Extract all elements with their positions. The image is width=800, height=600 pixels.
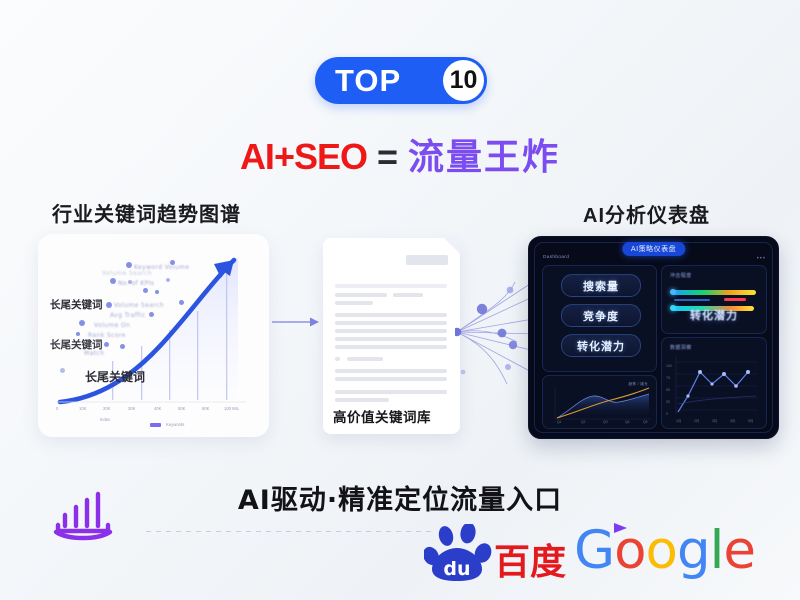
axis-tick: 50K [178, 406, 185, 411]
gauge-panel-title: 冲击程度 [670, 272, 692, 279]
flow-arrow-icon [272, 316, 320, 328]
blur-text: Volume Search [102, 270, 152, 277]
doc-placeholder-line [335, 284, 447, 288]
axis-tick: Q4 [625, 420, 630, 424]
blur-text: Avg Traffic [110, 312, 146, 319]
google-letter: G [574, 520, 614, 581]
doc-placeholder-line [335, 337, 447, 341]
axis-tick: 0 [666, 412, 668, 416]
axis-tick: Q1 [557, 420, 562, 424]
axis-tick: 30K [128, 406, 135, 411]
axis-tick: 40K [154, 406, 161, 411]
doc-placeholder-line [335, 293, 387, 297]
scatter-dot [155, 290, 159, 294]
doc-placeholder-line [335, 345, 447, 349]
doc-placeholder-line [335, 321, 447, 325]
footer-title: AI驱动·精准定位流量入口 [0, 478, 800, 517]
line-chart-panel: 数据洞察 [661, 337, 767, 429]
axis-tick: 25 [666, 400, 670, 404]
top-badge-number: 10 [450, 68, 478, 93]
gauge-threshold-bar [724, 298, 746, 301]
doc-placeholder-line [335, 301, 373, 305]
scatter-dot [166, 278, 170, 282]
axis-tick: 60K [202, 406, 209, 411]
slide-canvas: TOP 10 AI+SEO=流量王炸 行业关键词趋势图谱 AI分析仪表盘 [0, 0, 800, 600]
top-badge-word: TOP [335, 65, 401, 96]
keyword-trend-card: Keyword Volume No. of KPIs Volume Search… [38, 234, 269, 437]
document-title: 高价值关键词库 [333, 406, 431, 426]
left-section-caption: 行业关键词趋势图谱 [52, 198, 241, 227]
gradient-bar [672, 290, 756, 295]
axis-tick: 20K [103, 406, 110, 411]
dashboard-menu-icon[interactable]: ••• [757, 256, 766, 262]
page-fold-icon [444, 238, 460, 254]
axis-tick: Q3 [603, 420, 608, 424]
dashboard-brand-label: Dashboard [543, 255, 569, 260]
gauge-marker [670, 305, 676, 311]
scatter-dot [126, 262, 132, 268]
axis-tick: 4月 [730, 418, 735, 423]
metrics-panel: 搜索量 竞争度 转化潜力 [542, 265, 657, 372]
keyword-label: 长尾关键词 [50, 337, 103, 352]
scatter-dot [149, 312, 154, 317]
gauge-marker [670, 289, 676, 295]
legend-swatch [150, 423, 161, 427]
metric-pill-competition[interactable]: 竞争度 [561, 304, 641, 327]
flow-dashed-line [146, 531, 432, 532]
axis-tick: 3月 [712, 418, 717, 423]
headline-right: 流量王炸 [408, 136, 560, 177]
doc-placeholder-line [335, 398, 389, 402]
blur-text: No. of KPIs [118, 280, 154, 287]
scatter-dot [110, 278, 116, 284]
axis-tick: 1月 [676, 418, 681, 423]
legend-label: Keywords [166, 422, 184, 427]
page-title: AI+SEO=流量王炸 [0, 128, 800, 180]
ai-dashboard-card: AI策略仪表盘 Dashboard ••• 搜索量 竞争度 转化潜力 趋势 / … [528, 236, 779, 439]
doc-placeholder-line [335, 313, 447, 317]
google-wordmark: Google [574, 524, 755, 577]
axis-tick: 100 MIL [224, 406, 239, 411]
scatter-dot [104, 342, 109, 347]
scatter-dot [143, 288, 148, 293]
doc-placeholder-line [335, 329, 447, 333]
svg-text:du: du [443, 558, 470, 580]
top-badge-number-circle: 10 [443, 60, 484, 101]
axis-tick: 100 [666, 364, 672, 368]
keyword-library-document-card: 高价值关键词库 [323, 238, 460, 434]
axis-caption: Index [100, 417, 110, 422]
metric-pill-search-volume[interactable]: 搜索量 [561, 274, 641, 297]
bar-chart-icon [48, 484, 118, 546]
gauge-overlay-label: 转化潜力 [690, 307, 738, 323]
doc-placeholder-line [347, 357, 383, 361]
axis-tick: 5月 [748, 418, 753, 423]
doc-placeholder-line [393, 293, 423, 297]
scatter-dot [79, 320, 85, 326]
doc-header-block [406, 255, 448, 265]
headline-left: AI+SEO [240, 136, 367, 177]
keyword-label: 长尾关键词 [50, 297, 103, 312]
google-letter: g [677, 520, 710, 581]
metric-pill-conversion[interactable]: 转化潜力 [561, 334, 641, 357]
axis-tick: Q2 [581, 420, 586, 424]
scatter-dot [120, 344, 125, 349]
axis-tick: 75 [666, 376, 670, 380]
baidu-wordmark: 百度 [494, 533, 566, 585]
google-letter: o [646, 520, 677, 581]
doc-placeholder-line [335, 369, 447, 373]
axis-tick: 2月 [694, 418, 699, 423]
scatter-dot [106, 302, 112, 308]
doc-placeholder-line [335, 377, 447, 381]
dashboard-title-badge: AI策略仪表盘 [622, 242, 685, 256]
blur-text: Volume On [94, 322, 130, 329]
google-letter: l [710, 520, 724, 581]
right-section-caption: AI分析仪表盘 [583, 199, 710, 228]
top-rank-badge: TOP 10 [315, 57, 487, 104]
line-chart-svg [662, 338, 766, 428]
doc-placeholder-line [335, 390, 447, 394]
google-letter: e [723, 520, 755, 581]
gauge-panel: 冲击程度 转化潜力 [661, 265, 767, 334]
axis-tick: 50 [666, 388, 670, 392]
keyword-label: 长尾关键词 [85, 368, 145, 385]
axis-tick: Q5 [643, 420, 648, 424]
google-letter: o [614, 520, 645, 581]
gauge-subbar [674, 299, 710, 301]
headline-operator: = [377, 136, 398, 177]
axis-tick: 10K [79, 406, 86, 411]
scatter-dot [60, 368, 65, 373]
blur-text: Volume Search [114, 302, 164, 309]
doc-bullet [335, 357, 340, 361]
axis-tick: 0 [56, 406, 58, 411]
scatter-dot [179, 300, 184, 305]
scatter-dot [76, 332, 80, 336]
area-chart-panel: 趋势 / 增长 Q1 Q2 Q3 Q4 Q5 [542, 375, 657, 429]
